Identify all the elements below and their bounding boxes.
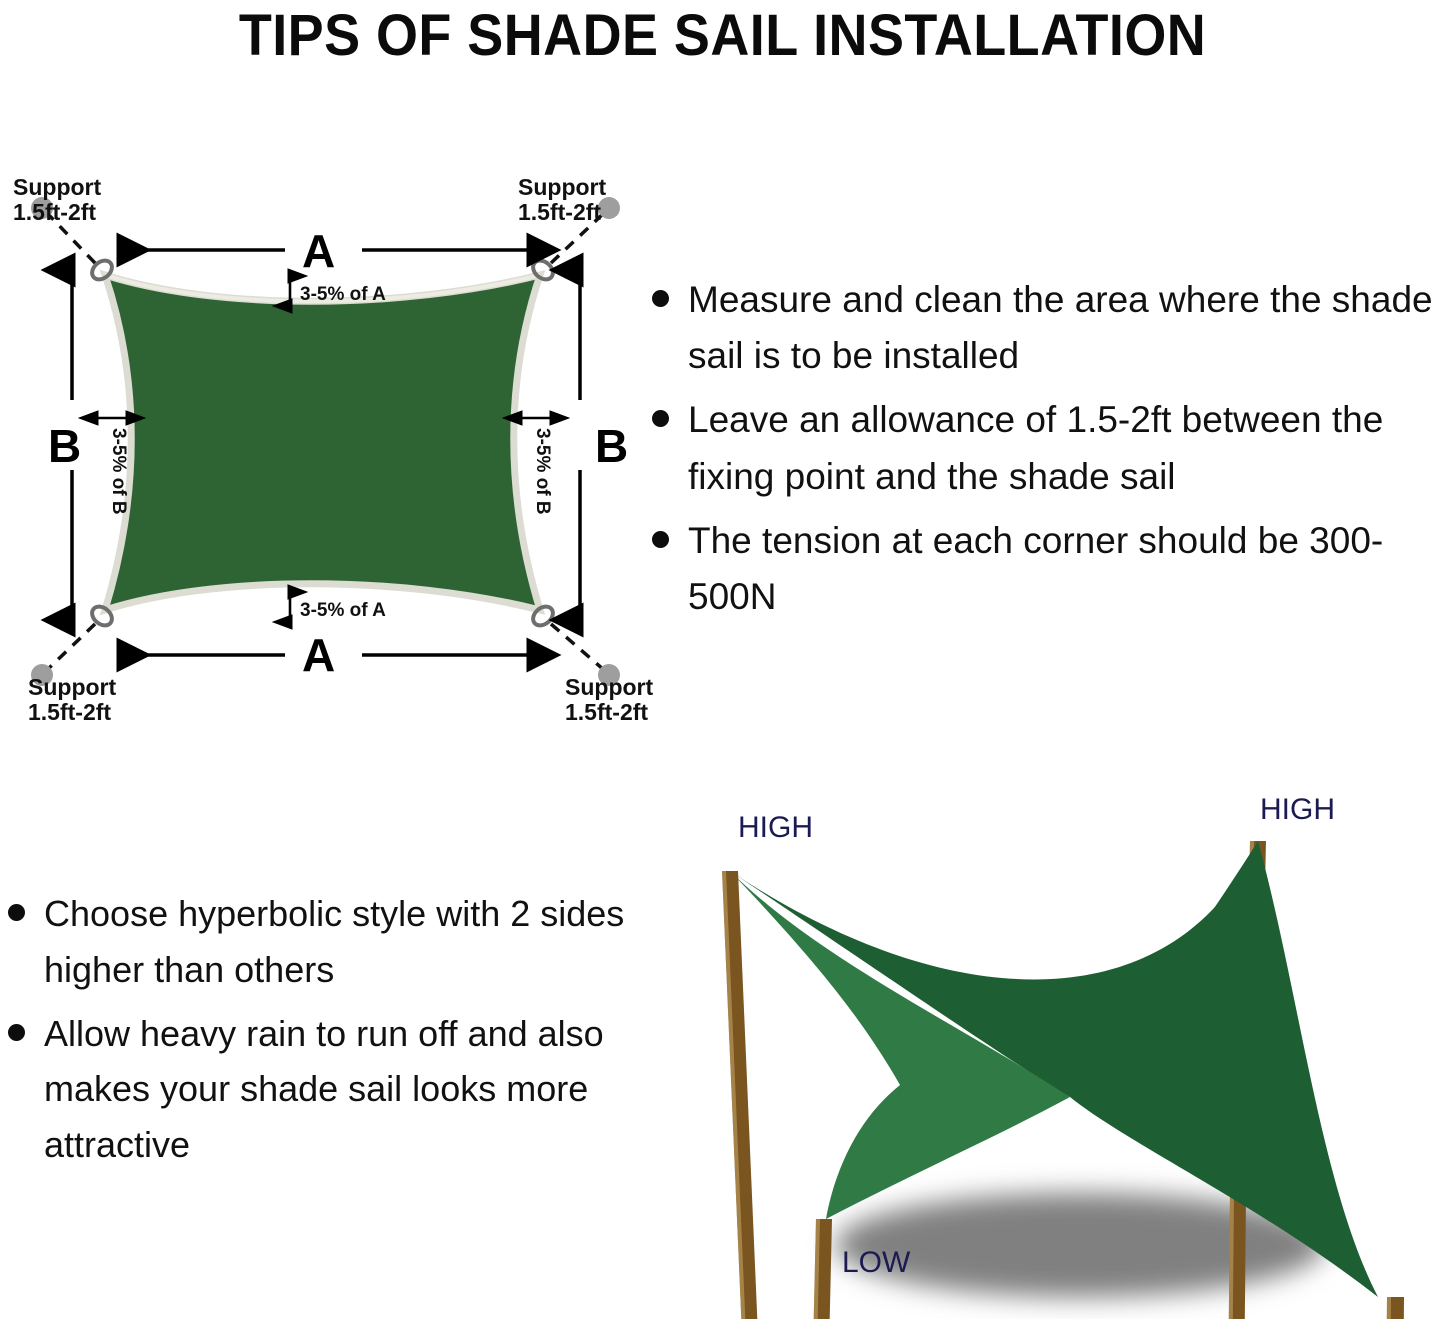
dimension-label-top-A: A xyxy=(302,225,335,277)
installation-tips-right: Measure and clean the area where the sha… xyxy=(644,272,1444,633)
tip-item: Choose hyperbolic style with 2 sides hig… xyxy=(0,886,630,998)
installation-tips-bottom-left: Choose hyperbolic style with 2 sides hig… xyxy=(0,886,630,1181)
support-label-bottom-right-line1: Support xyxy=(565,674,653,700)
support-dot-top-right xyxy=(598,197,620,219)
hyperbolic-sail-illustration: HIGH HIGH LOW LOW xyxy=(660,785,1445,1319)
dimension-label-bottom-A: A xyxy=(302,629,335,681)
sail-dimension-diagram: Support 1.5ft-2ft Support 1.5ft-2ft Supp… xyxy=(0,150,700,730)
curvature-label-left: 3-5% of B xyxy=(108,428,129,515)
support-label-bottom-left-line2: 1.5ft-2ft xyxy=(28,699,111,725)
tip-item: Measure and clean the area where the sha… xyxy=(644,272,1444,384)
support-label-top-right-line2: 1.5ft-2ft xyxy=(518,199,601,225)
support-label-bottom-left-line1: Support xyxy=(28,674,116,700)
page-title: TIPS OF SHADE SAIL INSTALLATION xyxy=(51,2,1395,69)
support-label-top-right-line1: Support xyxy=(518,174,606,200)
shade-sail-shape xyxy=(105,275,540,610)
dimension-label-left-B: B xyxy=(48,420,81,472)
tip-item: Leave an allowance of 1.5-2ft between th… xyxy=(644,392,1444,504)
support-label-bottom-right-line2: 1.5ft-2ft xyxy=(565,699,648,725)
dimension-label-right-B: B xyxy=(595,420,628,472)
support-label-top-left-line2: 1.5ft-2ft xyxy=(13,199,96,225)
infographic-page: TIPS OF SHADE SAIL INSTALLATION xyxy=(0,0,1445,1319)
label-high-left: HIGH xyxy=(738,811,813,844)
support-leader-bottom-left xyxy=(47,624,95,670)
tip-item: The tension at each corner should be 300… xyxy=(644,513,1444,625)
curvature-label-top: 3-5% of A xyxy=(300,284,386,305)
label-high-right: HIGH xyxy=(1260,793,1335,826)
support-leader-bottom-right xyxy=(551,624,604,670)
post-low-right xyxy=(1385,1297,1404,1319)
tip-item: Allow heavy rain to run off and also mak… xyxy=(0,1006,630,1173)
curvature-label-bottom: 3-5% of A xyxy=(300,600,386,621)
support-label-top-left-line1: Support xyxy=(13,174,101,200)
post-low-left xyxy=(812,1219,832,1319)
post-high-left xyxy=(722,871,768,1319)
label-low-left: LOW xyxy=(842,1246,911,1279)
curvature-label-right: 3-5% of B xyxy=(532,428,553,515)
